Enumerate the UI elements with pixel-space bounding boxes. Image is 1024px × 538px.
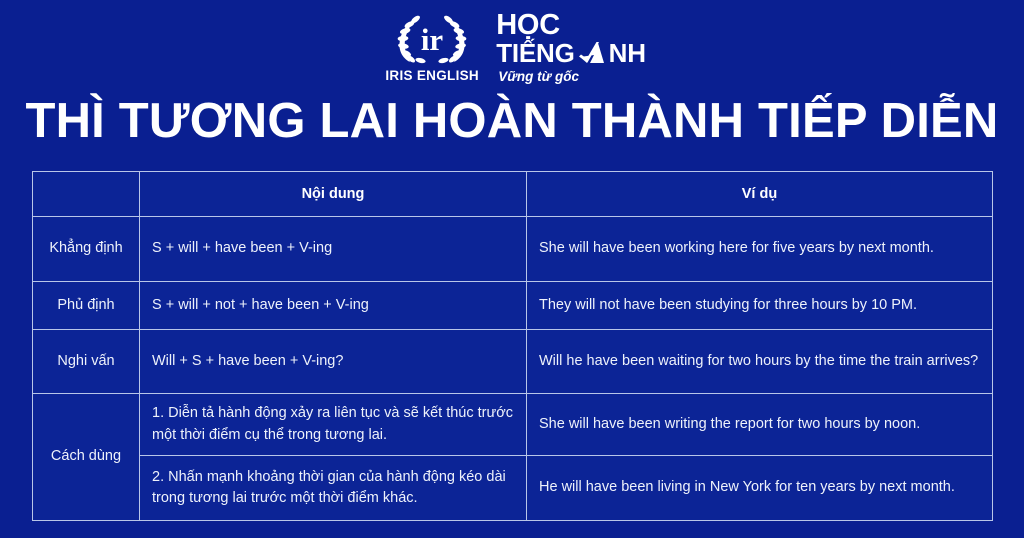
row-example-usage-2: He will have been living in New York for… <box>527 456 993 521</box>
column-header-example: Ví dụ <box>527 172 993 217</box>
table-row: Nghi vấn Will + S + have been + V-ing? W… <box>33 330 993 394</box>
table-row: 2. Nhấn mạnh khoảng thời gian của hành đ… <box>33 456 993 521</box>
brand-slogan: Vững từ gốc <box>498 69 579 84</box>
brand-logo: ir IRIS ENGLISH HỌC TIẾNG NH Vững từ gốc <box>0 8 1024 94</box>
row-content-affirmative: S + will + have been + V-ing <box>140 217 527 282</box>
row-content-interrogative: Will + S + have been + V-ing? <box>140 330 527 394</box>
row-example-affirmative: She will have been working here for five… <box>527 217 993 282</box>
row-label-affirmative: Khẳng định <box>33 217 140 282</box>
table-header-row: Nội dung Ví dụ <box>33 172 993 217</box>
brand-logo-inner: ir IRIS ENGLISH HỌC TIẾNG NH Vững từ gốc <box>378 8 646 84</box>
brand-line-tieng: TIẾNG <box>496 40 574 66</box>
column-header-content: Nội dung <box>140 172 527 217</box>
row-example-usage-1: She will have been writing the report fo… <box>527 394 993 456</box>
table-body: Khẳng định S + will + have been + V-ing … <box>33 217 993 521</box>
brand-line-tieng-anh: TIẾNG NH <box>496 40 646 66</box>
row-content-usage-1: 1. Diễn tả hành động xảy ra liên tục và … <box>140 394 527 456</box>
brand-crest-block: ir IRIS ENGLISH <box>378 8 486 83</box>
stylized-a-checkmark-icon <box>578 40 608 66</box>
table-row: Phủ định S + will + not + have been + V-… <box>33 282 993 330</box>
row-label-interrogative: Nghi vấn <box>33 330 140 394</box>
brand-wordmark: HỌC TIẾNG NH Vững từ gốc <box>496 8 646 84</box>
table-row: Khẳng định S + will + have been + V-ing … <box>33 217 993 282</box>
row-content-negative: S + will + not + have been + V-ing <box>140 282 527 330</box>
table-row: Cách dùng 1. Diễn tả hành động xảy ra li… <box>33 394 993 456</box>
page-title: THÌ TƯƠNG LAI HOÀN THÀNH TIẾP DIỄN <box>0 96 1024 148</box>
row-content-usage-2: 2. Nhấn mạnh khoảng thời gian của hành đ… <box>140 456 527 521</box>
column-header-blank <box>33 172 140 217</box>
brand-line-anh-suffix: NH <box>609 40 646 66</box>
laurel-wreath-icon: ir <box>390 10 474 66</box>
brand-line-hoc: HỌC <box>496 11 560 39</box>
grammar-table: Nội dung Ví dụ Khẳng định S + will + hav… <box>32 171 993 521</box>
row-label-usage: Cách dùng <box>33 394 140 521</box>
svg-text:ir: ir <box>421 22 444 57</box>
row-example-interrogative: Will he have been waiting for two hours … <box>527 330 993 394</box>
brand-crest-caption: IRIS ENGLISH <box>385 68 479 83</box>
row-label-negative: Phủ định <box>33 282 140 330</box>
table-header: Nội dung Ví dụ <box>33 172 993 217</box>
row-example-negative: They will not have been studying for thr… <box>527 282 993 330</box>
